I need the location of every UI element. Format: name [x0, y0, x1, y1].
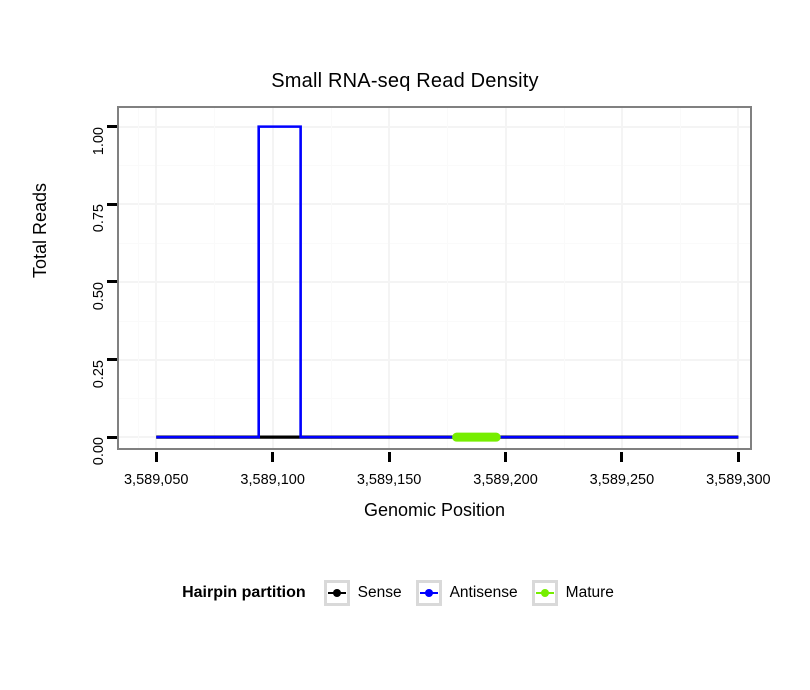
legend-label: Sense: [358, 584, 402, 602]
legend-entry-antisense[interactable]: Antisense: [416, 580, 518, 606]
legend-entries: SenseAntisenseMature: [324, 580, 628, 606]
chart-title: Small RNA-seq Read Density: [0, 70, 810, 93]
y-tick-label: 0.50: [91, 282, 107, 310]
legend-label: Antisense: [450, 584, 518, 602]
legend-key-point: [541, 589, 549, 597]
legend-key-point: [333, 589, 341, 597]
legend: Hairpin partition SenseAntisenseMature: [0, 580, 810, 606]
y-tick-label: 0.00: [91, 437, 107, 465]
y-tick-mark: [107, 125, 117, 128]
y-tick-mark: [107, 436, 117, 439]
y-tick-mark: [107, 203, 117, 206]
legend-key-mature-icon: [532, 580, 558, 606]
y-tick-mark: [107, 280, 117, 283]
legend-title: Hairpin partition: [182, 584, 306, 602]
series-layer: [119, 108, 750, 448]
x-tick-label: 3,589,200: [473, 472, 538, 488]
legend-entry-mature[interactable]: Mature: [532, 580, 614, 606]
x-tick-label: 3,589,150: [357, 472, 422, 488]
x-axis-title: Genomic Position: [117, 500, 752, 521]
legend-key-point: [425, 589, 433, 597]
legend-label: Mature: [566, 584, 614, 602]
y-axis-title: Total Reads: [30, 183, 51, 278]
legend-entry-sense[interactable]: Sense: [324, 580, 402, 606]
x-tick-mark: [388, 452, 391, 462]
x-tick-mark: [737, 452, 740, 462]
legend-key-antisense-icon: [416, 580, 442, 606]
legend-key-sense-icon: [324, 580, 350, 606]
series-antisense-path: [156, 127, 738, 438]
x-tick-mark: [504, 452, 507, 462]
x-tick-label: 3,589,300: [706, 472, 771, 488]
x-tick-label: 3,589,250: [590, 472, 655, 488]
y-tick-label: 0.25: [91, 360, 107, 388]
plot-panel: [117, 106, 752, 450]
x-tick-mark: [620, 452, 623, 462]
x-tick-label: 3,589,050: [124, 472, 189, 488]
x-tick-mark: [155, 452, 158, 462]
y-tick-mark: [107, 358, 117, 361]
series-line-antisense: [156, 127, 738, 438]
y-tick-label: 1.00: [91, 127, 107, 155]
x-tick-label: 3,589,100: [240, 472, 305, 488]
y-tick-label: 0.75: [91, 204, 107, 232]
x-tick-mark: [271, 452, 274, 462]
